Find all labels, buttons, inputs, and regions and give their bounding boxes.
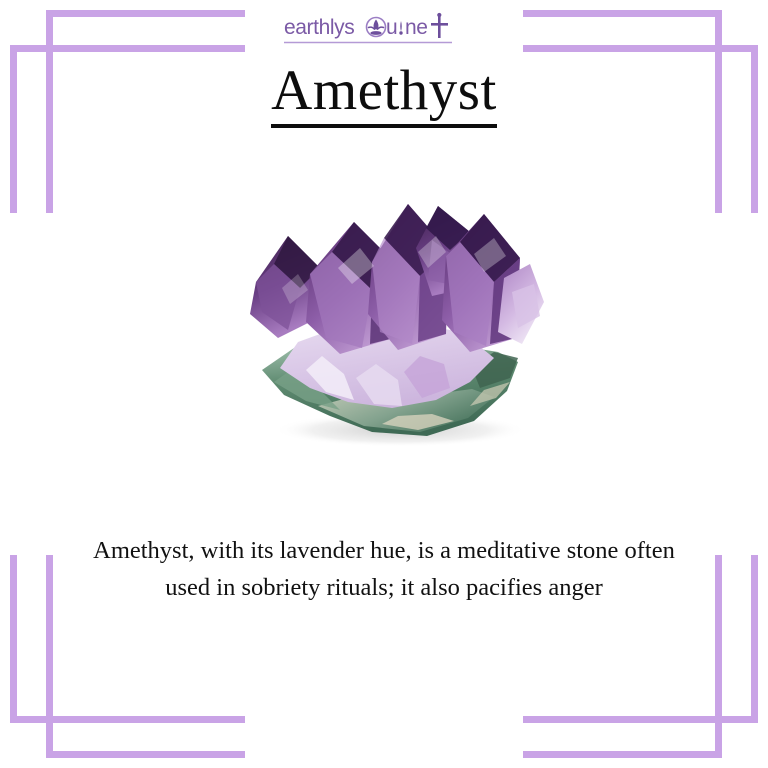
frame-line-bottom-right-outer-vertical — [751, 555, 758, 723]
site-logo[interactable]: earthlys u ne — [0, 12, 768, 46]
svg-text:earthlys: earthlys — [284, 16, 354, 39]
page-title-text: Amethyst — [271, 59, 497, 128]
frame-line-bottom-left-inner-horizontal — [46, 751, 245, 758]
logo-t-figure-icon — [431, 13, 448, 38]
frame-line-bottom-left-inner-vertical — [46, 555, 53, 758]
amethyst-geode-image — [222, 192, 546, 450]
frame-line-bottom-left-outer-vertical — [10, 555, 17, 723]
frame-line-bottom-right-outer-horizontal — [523, 716, 758, 723]
description-text: Amethyst, with its lavender hue, is a me… — [84, 532, 684, 606]
amethyst-info-card: earthlys u ne — [0, 0, 768, 768]
logo-dot-icon — [399, 21, 402, 35]
svg-text:ne: ne — [405, 16, 428, 39]
frame-line-top-right-outer-horizontal — [523, 45, 758, 52]
amethyst-geode-illustration — [222, 192, 546, 450]
frame-line-bottom-right-inner-vertical — [715, 555, 722, 758]
page-title: Amethyst — [0, 62, 768, 119]
frame-line-bottom-right-inner-horizontal — [523, 751, 722, 758]
svg-text:u: u — [386, 16, 397, 39]
soul-figure-icon — [367, 18, 386, 37]
earthlysoul-net-logo-icon: earthlys u ne — [284, 12, 484, 46]
